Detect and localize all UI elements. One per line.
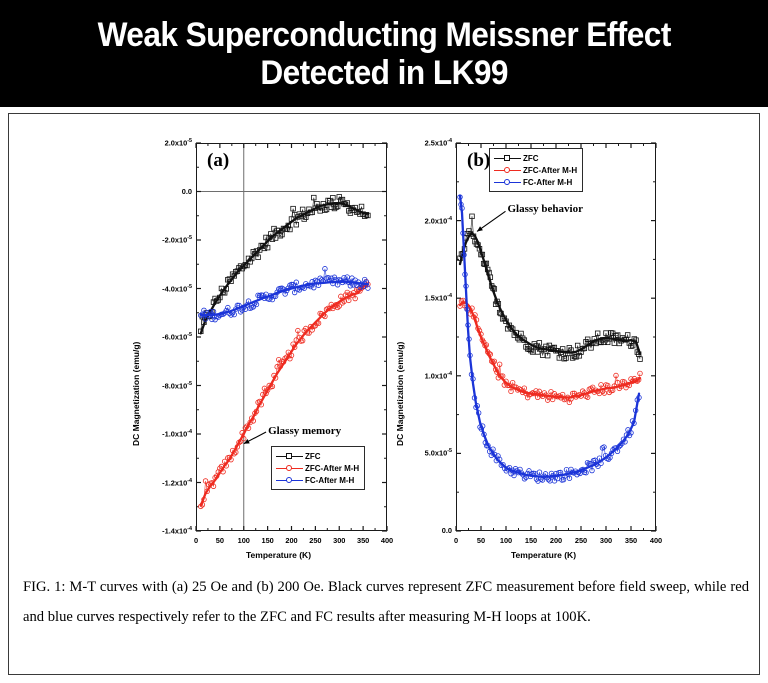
x-tick-label: 0: [444, 536, 468, 545]
y-tick-label: 1.5x10-4: [425, 293, 452, 302]
annotation-glassy-behavior: Glassy behavior: [508, 203, 583, 215]
legend-label: ZFC: [523, 154, 539, 163]
legend-swatch-icon: [494, 177, 521, 187]
x-tick-label: 350: [619, 536, 643, 545]
figure-page: Weak Superconducting Meissner Effect Det…: [0, 0, 768, 683]
y-tick-label: 2.5x10-4: [425, 138, 452, 147]
y-tick-label: -1.4x10-4: [162, 526, 192, 535]
y-tick-label: -1.2x10-4: [162, 478, 192, 487]
y-tick-label: 0.0: [442, 526, 452, 535]
y-tick-label: -1.0x10-4: [162, 429, 192, 438]
y-tick-label: 5.0x10-5: [425, 448, 452, 457]
legend-item: FC-After M-H: [494, 176, 577, 188]
x-tick-label: 400: [644, 536, 668, 545]
legend-swatch-icon: [276, 463, 303, 473]
x-tick-label: 100: [494, 536, 518, 545]
y-tick-label: 1.0x10-4: [425, 371, 452, 380]
legend-label: FC-After M-H: [305, 476, 354, 485]
headline-banner: Weak Superconducting Meissner Effect Det…: [0, 0, 768, 107]
y-tick-label: -8.0x10-5: [162, 381, 192, 390]
x-tick-label: 250: [569, 536, 593, 545]
legend-label: ZFC-After M-H: [305, 464, 359, 473]
x-tick-label: 100: [232, 536, 256, 545]
legend-label: ZFC: [305, 452, 321, 461]
y-tick-label: 2.0x10-4: [425, 216, 452, 225]
legend-swatch-icon: [494, 165, 521, 175]
figure-caption: FIG. 1: M-T curves with (a) 25 Oe and (b…: [23, 572, 749, 632]
x-tick-label: 150: [256, 536, 280, 545]
legend-item: ZFC-After M-H: [494, 164, 577, 176]
figure-card: (a) DC Magnetization (emu/g) Temperature…: [8, 113, 760, 675]
chart-panel-a: (a) DC Magnetization (emu/g) Temperature…: [119, 114, 404, 562]
headline-line-2: Detected in LK99: [260, 54, 508, 92]
plot-area: (a) DC Magnetization (emu/g) Temperature…: [9, 114, 761, 562]
legend-label: FC-After M-H: [523, 178, 572, 187]
legend-swatch-icon: [276, 451, 303, 461]
legend-swatch-icon: [494, 153, 521, 163]
x-tick-label: 0: [184, 536, 208, 545]
x-tick-label: 150: [519, 536, 543, 545]
legend-a: ZFCZFC-After M-HFC-After M-H: [271, 446, 365, 490]
annotation-glassy-memory: Glassy memory: [268, 425, 341, 437]
x-tick-label: 300: [594, 536, 618, 545]
x-tick-label: 350: [351, 536, 375, 545]
x-tick-label: 50: [208, 536, 232, 545]
legend-swatch-icon: [276, 475, 303, 485]
y-tick-label: -6.0x10-5: [162, 332, 192, 341]
x-tick-label: 200: [280, 536, 304, 545]
x-tick-label: 50: [469, 536, 493, 545]
legend-item: FC-After M-H: [276, 474, 359, 486]
y-tick-label: 2.0x10-5: [165, 138, 192, 147]
y-tick-label: -2.0x10-5: [162, 235, 192, 244]
headline-line-1: Weak Superconducting Meissner Effect: [97, 16, 670, 54]
legend-item: ZFC: [276, 450, 359, 462]
legend-item: ZFC: [494, 152, 577, 164]
legend-label: ZFC-After M-H: [523, 166, 577, 175]
chart-panel-b: (b) DC Magnetization (emu/g) Temperature…: [389, 114, 679, 562]
x-tick-label: 300: [327, 536, 351, 545]
legend-b: ZFCZFC-After M-HFC-After M-H: [489, 148, 583, 192]
y-tick-label: -4.0x10-5: [162, 284, 192, 293]
legend-item: ZFC-After M-H: [276, 462, 359, 474]
x-tick-label: 250: [303, 536, 327, 545]
x-tick-label: 200: [544, 536, 568, 545]
y-tick-label: 0.0: [182, 187, 192, 196]
